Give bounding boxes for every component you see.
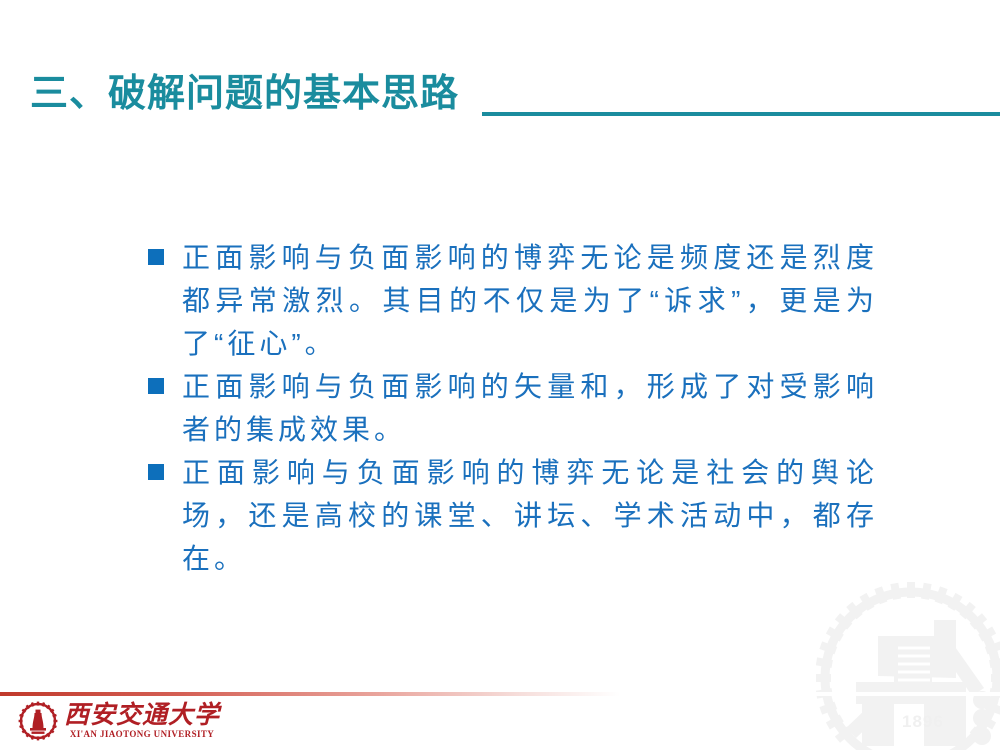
- list-item: 正面影响与负面影响的博弈无论是社会的舆论场，还是高校的课堂、讲坛、学术活动中，都…: [148, 451, 878, 580]
- list-item: 正面影响与负面影响的矢量和，形成了对受影响者的集成效果。: [148, 365, 878, 451]
- list-item-text: 正面影响与负面影响的矢量和，形成了对受影响者的集成效果。: [182, 365, 878, 451]
- list-item-text: 正面影响与负面影响的博弈无论是社会的舆论场，还是高校的课堂、讲坛、学术活动中，都…: [182, 451, 878, 580]
- title-underline-rule: [482, 112, 1000, 116]
- presentation-slide: 三、破解问题的基本思路 正面影响与负面影响的博弈无论是频度还是烈度都异常激烈。其…: [0, 0, 1000, 750]
- page-title: 三、破解问题的基本思路: [30, 72, 459, 116]
- square-bullet-icon: [148, 378, 164, 394]
- logo-name-cn: 西安交通大学: [64, 702, 220, 729]
- watermark-year-label: 1896: [902, 712, 944, 732]
- logo-name-en: XI'AN JIAOTONG UNIVERSITY: [64, 729, 220, 740]
- slide-title-block: 三、破解问题的基本思路: [0, 72, 1000, 122]
- gear-bell-emblem-icon: [18, 701, 58, 741]
- list-item: 正面影响与负面影响的博弈无论是频度还是烈度都异常激烈。其目的不仅是为了“诉求”，…: [148, 236, 878, 365]
- university-logo: 西安交通大学 XI'AN JIAOTONG UNIVERSITY: [18, 698, 220, 744]
- bullet-list: 正面影响与负面影响的博弈无论是频度还是烈度都异常激烈。其目的不仅是为了“诉求”，…: [148, 236, 878, 580]
- footer-accent-rule: [0, 692, 1000, 696]
- square-bullet-icon: [148, 249, 164, 265]
- square-bullet-icon: [148, 464, 164, 480]
- list-item-text: 正面影响与负面影响的博弈无论是频度还是烈度都异常激烈。其目的不仅是为了“诉求”，…: [182, 236, 878, 365]
- logo-wordmark: 西安交通大学 XI'AN JIAOTONG UNIVERSITY: [64, 702, 220, 740]
